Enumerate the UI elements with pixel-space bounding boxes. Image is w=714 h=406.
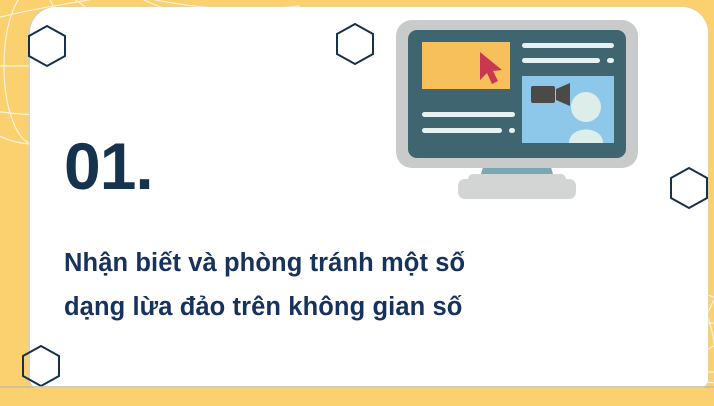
section-subtitle: Nhận biết và phòng tránh một số dạng lừa… <box>64 242 644 330</box>
bottom-accent-strip <box>0 388 714 406</box>
slide-root: 01. Nhận biết và phòng tránh một số dạng… <box>0 0 714 406</box>
subtitle-line-1: Nhận biết và phòng tránh một số <box>64 242 644 286</box>
section-number: 01. <box>64 133 153 199</box>
desktop-monitor-illustration <box>392 16 642 206</box>
subtitle-line-2: dạng lừa đảo trên không gian số <box>64 286 644 330</box>
video-camera-icon <box>531 83 570 106</box>
